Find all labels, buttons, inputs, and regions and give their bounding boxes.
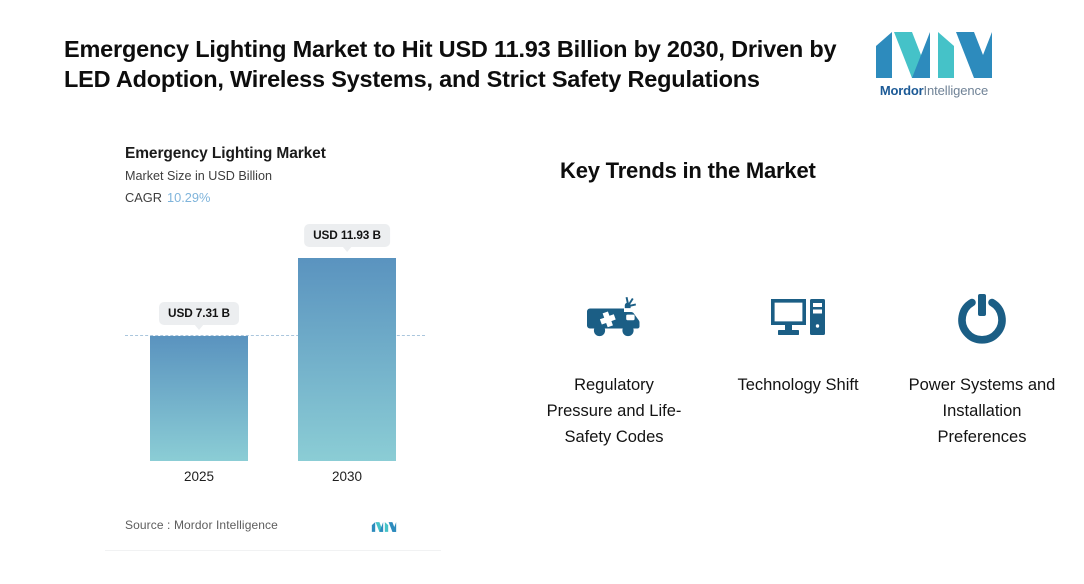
bar-value-badge: USD 11.93 B — [304, 224, 390, 247]
trend-item-power-systems[interactable]: Power Systems and Installation Preferenc… — [896, 290, 1068, 450]
logo-wordmark-bold: Mordor — [880, 83, 924, 98]
bar-group-2025: USD 7.31 B 2025 — [150, 336, 248, 461]
trend-item-regulatory-pressure[interactable]: Regulatory Pressure and Life-Safety Code… — [528, 290, 700, 450]
bar-value-badge: USD 7.31 B — [159, 302, 239, 325]
trend-label: Power Systems and Installation Preferenc… — [907, 372, 1057, 450]
source-name: Mordor Intelligence — [174, 518, 278, 532]
page-title: Emergency Lighting Market to Hit USD 11.… — [64, 34, 864, 94]
trend-label: Technology Shift — [737, 372, 858, 398]
ambulance-icon — [586, 290, 642, 346]
trend-item-technology-shift[interactable]: Technology Shift — [712, 290, 884, 398]
source-mordor-logo-icon — [371, 519, 397, 535]
trends-row: Regulatory Pressure and Life-Safety Code… — [528, 290, 1068, 450]
chart-title: Emergency Lighting Market — [125, 145, 326, 163]
cagr-value: 10.29% — [167, 190, 210, 205]
mordor-intelligence-logo: MordorIntelligence — [872, 28, 996, 106]
desktop-computer-icon — [770, 290, 826, 346]
cagr-label: CAGR — [125, 190, 162, 205]
chart-source: Source : Mordor Intelligence — [125, 518, 278, 532]
chart-card-divider — [105, 550, 441, 551]
power-button-icon — [956, 290, 1008, 346]
trends-heading: Key Trends in the Market — [560, 158, 816, 184]
bar-2025[interactable] — [150, 336, 248, 461]
chart-plot-area: USD 7.31 B 2025 USD 11.93 B 2030 — [105, 223, 441, 488]
trend-label: Regulatory Pressure and Life-Safety Code… — [539, 372, 689, 450]
logo-wordmark: MordorIntelligence — [872, 83, 996, 98]
bar-group-2030: USD 11.93 B 2030 — [298, 258, 396, 461]
market-size-chart-card: Emergency Lighting Market Market Size in… — [105, 128, 441, 552]
chart-subtitle: Market Size in USD Billion — [125, 169, 272, 183]
bar-2030[interactable] — [298, 258, 396, 461]
mordor-logo-mark — [872, 28, 996, 82]
source-label: Source : — [125, 518, 171, 532]
chart-cagr: CAGR10.29% — [125, 190, 210, 205]
bar-xlabel-2025: 2025 — [150, 461, 248, 484]
bar-xlabel-2030: 2030 — [298, 461, 396, 484]
logo-wordmark-light: Intelligence — [924, 83, 989, 98]
